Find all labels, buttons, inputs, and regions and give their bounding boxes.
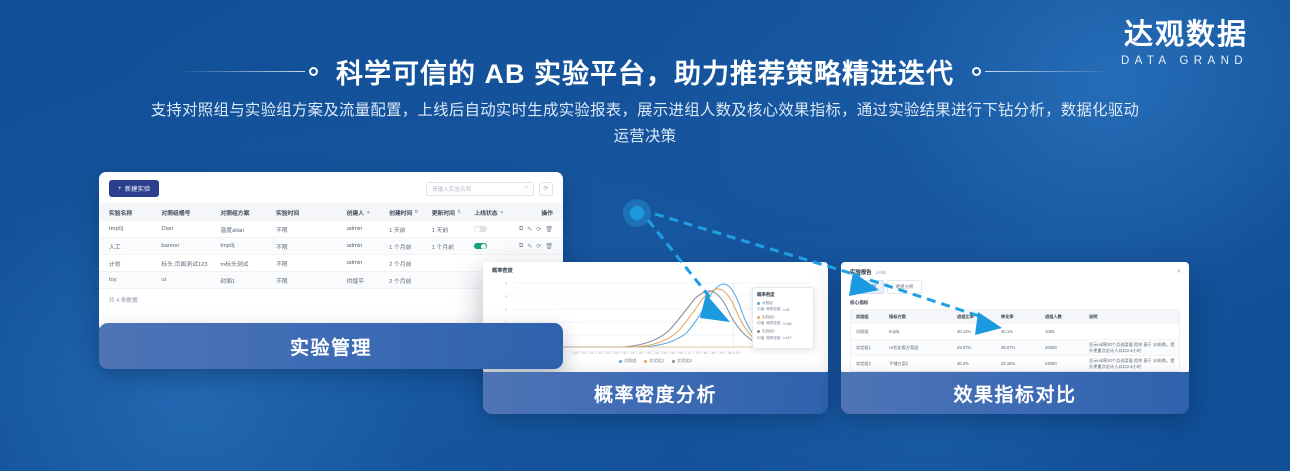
chart-title: 概率密度 (483, 262, 828, 274)
tooltip-row: 均值 概率密度 0.36 (757, 307, 809, 312)
cell-bucket: banner (161, 243, 220, 249)
filter-icon[interactable]: ▼ (366, 210, 371, 215)
cell-rate: 29.07% (957, 345, 1001, 350)
chart-tooltip: 概率密度 对照组 均值 概率密度 0.36 实验组1 (752, 287, 814, 349)
series-color-dot-icon (757, 330, 760, 333)
tab-group-analysis[interactable]: 进组分析 (887, 280, 921, 294)
column-header-user-label: 创建人 (347, 208, 364, 217)
column-header-status[interactable]: 上线状态 ▼ (474, 208, 512, 217)
column-header-updated[interactable]: 更新时间 ⇅ (432, 208, 475, 217)
modal-header: 实验报告 (A/B) ✕ (841, 262, 1189, 280)
cell-users: 22000 (1045, 361, 1089, 366)
search-area: 请输入实验名称 ⌕ ⟳ (426, 182, 553, 196)
cell-group: 实验组2 (851, 361, 889, 367)
cell-users: 20000 (1045, 345, 1089, 350)
column-header-rate: 进组比率 (957, 314, 1001, 320)
cell-users: 1083 (1045, 329, 1089, 334)
cell-group: 对照组 (851, 329, 889, 335)
column-header-conversion: 转化率 (1001, 314, 1045, 320)
cell-created: 2 个月前 (389, 276, 432, 285)
cell-rate: 30.12% (957, 329, 1001, 334)
cell-plan: m标头测试 (220, 259, 276, 268)
refresh-icon[interactable]: ⟳ (536, 226, 541, 233)
edit-icon[interactable]: ✎ (527, 226, 532, 233)
cell-created: 2 个月前 (389, 259, 432, 268)
cell-name: toy (109, 277, 161, 283)
decoration-dot-icon (309, 67, 318, 76)
cell-status[interactable] (474, 243, 512, 250)
cell-name: 人工 (109, 242, 161, 251)
delete-icon[interactable]: 🗑 (545, 226, 553, 233)
search-placeholder: 请输入实验名称 (432, 185, 471, 193)
cell-operations: ⧉ ✎ ⟳ 🗑 (512, 226, 553, 233)
table-row[interactable]: 实验组2 平铺方案2 30.2% 32.18% 22000 显示uid率20个月… (851, 355, 1179, 371)
column-header-time: 实验时间 (276, 208, 346, 217)
close-icon[interactable]: ✕ (1176, 269, 1181, 275)
cell-conversion: 40.1% (1001, 329, 1045, 334)
table-row[interactable]: 人工 banner tmp0j 不限 admin 1 个月前 1 个月前 ⧉ ✎… (99, 238, 563, 255)
legend-item[interactable]: 实验组1 (644, 358, 664, 364)
slide-background: 达观数据 DATA GRAND 科学可信的 AB 实验平台，助力推荐策略精进迭代… (0, 0, 1290, 471)
column-header-user[interactable]: 创建人 ▼ (347, 208, 390, 217)
sort-icon[interactable]: ⇅ (414, 209, 418, 215)
modal-tabs: 核心指标 进组分析 (841, 280, 1189, 298)
column-header-updated-label: 更新时间 (432, 208, 455, 217)
tooltip-title: 概率密度 (757, 292, 809, 298)
cell-time: 不限 (276, 242, 346, 251)
cell-user: admin (347, 226, 390, 232)
cell-created: 1 个月前 (389, 242, 432, 251)
cell-status[interactable] (474, 226, 512, 233)
tooltip-row: 均值 概率密度 0.487 (757, 336, 809, 341)
tooltip-group-name: 对照组 (757, 301, 809, 306)
refresh-icon[interactable]: ⟳ (539, 182, 553, 196)
tooltip-group-name: 实验组1 (757, 315, 809, 320)
series-color-dot-icon (757, 302, 760, 305)
filter-icon[interactable]: ▼ (500, 210, 505, 215)
cell-conversion: 36.07% (1001, 345, 1045, 350)
column-header-group: 实验组 (851, 314, 889, 320)
tooltip-row: 均值 概率密度 0.298 (757, 321, 809, 326)
new-experiment-label: 新建实验 (125, 184, 151, 193)
experiment-toolbar: + 新建实验 请输入实验名称 ⌕ ⟳ (99, 172, 563, 203)
search-input[interactable]: 请输入实验名称 ⌕ (426, 182, 534, 196)
cell-plan: UI优化版方案组 (889, 345, 957, 351)
highlight-halo-icon (623, 199, 651, 227)
cell-bucket: Dian (161, 226, 220, 232)
column-header-created[interactable]: 创建时间 ⇅ (389, 208, 432, 217)
decoration-dot-icon (972, 67, 981, 76)
svg-text:3: 3 (505, 307, 507, 311)
cell-user: admin (347, 243, 390, 249)
highlight-dot-icon (630, 206, 644, 220)
tab-core-metrics[interactable]: 核心指标 (850, 280, 884, 294)
cell-name: tmp0j (109, 226, 161, 232)
metrics-table-header: 实验组 指标方案 进组比率 转化率 进组人数 说明 (851, 310, 1179, 323)
decoration-line (985, 71, 1113, 73)
cell-time: 不限 (276, 259, 346, 268)
cell-user: 供煌平 (347, 276, 390, 285)
column-header-bucket: 对照组桶号 (161, 208, 220, 217)
title-decoration-left (177, 67, 318, 76)
cell-plan: 平铺方案2 (889, 361, 957, 367)
column-header-users: 进组人数 (1045, 314, 1089, 320)
cell-name: 计划 (109, 259, 161, 268)
new-experiment-button[interactable]: + 新建实验 (109, 180, 159, 197)
legend-item[interactable]: 实验组2 (672, 358, 692, 364)
search-icon: ⌕ (525, 185, 528, 192)
decoration-line (177, 71, 305, 73)
title-decoration-right (972, 67, 1113, 76)
metrics-table: 实验组 指标方案 进组比率 转化率 进组人数 说明 对照组 tmp0j 30.1… (850, 309, 1180, 372)
tooltip-group: 对照组 均值 概率密度 0.36 (757, 301, 809, 312)
cell-time: 不限 (276, 276, 346, 285)
cell-created: 1 天前 (389, 225, 432, 234)
cell-time: 不限 (276, 225, 346, 234)
cell-plan: tmp0j (889, 329, 957, 334)
cell-plan: 温度alian (220, 225, 276, 234)
brand-name-cn: 达观数据 (1121, 20, 1248, 50)
cell-operations: ⧉ ✎ ⟳ 🗑 (512, 243, 553, 250)
refresh-icon[interactable]: ⟳ (536, 243, 541, 250)
column-header-operation: 操作 (512, 208, 553, 217)
cell-updated: 1 个月前 (432, 242, 475, 251)
cell-plan: tmp0j (220, 243, 276, 249)
title-row: 科学可信的 AB 实验平台，助力推荐策略精进迭代 (0, 52, 1290, 91)
sort-icon[interactable]: ⇅ (457, 209, 461, 215)
tooltip-group: 实验组2 均值 概率密度 0.487 (757, 329, 809, 340)
delete-icon[interactable]: 🗑 (545, 243, 553, 250)
cell-bucket: ui (161, 277, 220, 283)
column-header-status-label: 上线状态 (474, 208, 497, 217)
status-toggle[interactable] (474, 243, 487, 250)
cell-user: admin (347, 260, 390, 266)
cell-note: 显示uid率20个月进度值 相关 基于 10份数。提升更重点总计入口口2.4小时 (1089, 342, 1179, 354)
svg-text:4: 4 (505, 294, 507, 298)
column-header-name: 实验名称 (109, 208, 161, 217)
legend-item[interactable]: 对照组 (619, 358, 637, 364)
copy-icon[interactable]: ⧉ (519, 226, 523, 233)
section-title: 核心指标 (841, 298, 1189, 309)
cell-updated: 1 天前 (432, 225, 475, 234)
page-title: 科学可信的 AB 实验平台，助力推荐策略精进迭代 (336, 52, 954, 91)
experiment-table-header: 实验名称 对照组桶号 对照组方案 实验时间 创建人 ▼ 创建时间 ⇅ 更新时间 … (99, 203, 563, 221)
table-row[interactable]: 对照组 tmp0j 30.12% 40.1% 1083 (851, 323, 1179, 339)
column-header-plan: 指标方案 (889, 314, 957, 320)
cell-plan: 封面1 (220, 276, 276, 285)
table-row[interactable]: 实验组1 UI优化版方案组 29.07% 36.07% 20000 显示uid率… (851, 339, 1179, 355)
svg-text:5: 5 (505, 281, 507, 285)
modal-title: 实验报告 (850, 268, 872, 276)
cell-conversion: 32.18% (1001, 361, 1045, 366)
caption-metric-comparison: 效果指标对比 (841, 372, 1189, 414)
plus-icon: + (118, 185, 122, 192)
column-header-created-label: 创建时间 (389, 208, 412, 217)
column-header-plan: 对照组方案 (220, 208, 276, 217)
tooltip-group: 实验组1 均值 概率密度 0.298 (757, 315, 809, 326)
cell-bucket: 标头.页面测试123 (161, 259, 220, 268)
cell-note: 显示uid率20个月进度值 相关 基于 10份数。提升更重点总计入口口2.4小时 (1089, 358, 1179, 370)
column-header-note: 说明 (1089, 314, 1179, 320)
modal-subtitle: (A/B) (876, 270, 886, 275)
edit-icon[interactable]: ✎ (527, 243, 532, 250)
screenshot-metrics-modal: 实验报告 (A/B) ✕ 核心指标 进组分析 核心指标 实验组 指标方案 进组比… (841, 262, 1189, 374)
copy-icon[interactable]: ⧉ (519, 243, 523, 250)
status-toggle[interactable] (474, 226, 487, 233)
table-row[interactable]: tmp0j Dian 温度alian 不限 admin 1 天前 1 天前 ⧉ … (99, 221, 563, 238)
series-color-dot-icon (757, 316, 760, 319)
cell-rate: 30.2% (957, 361, 1001, 366)
tooltip-group-name: 实验组2 (757, 329, 809, 334)
caption-density-analysis: 概率密度分析 (483, 372, 828, 414)
page-subtitle: 支持对照组与实验组方案及流量配置，上线后自动实时生成实验报表，展示进组人数及核心… (145, 98, 1145, 150)
cell-group: 实验组1 (851, 345, 889, 351)
caption-experiment-management: 实验管理 (99, 323, 563, 369)
